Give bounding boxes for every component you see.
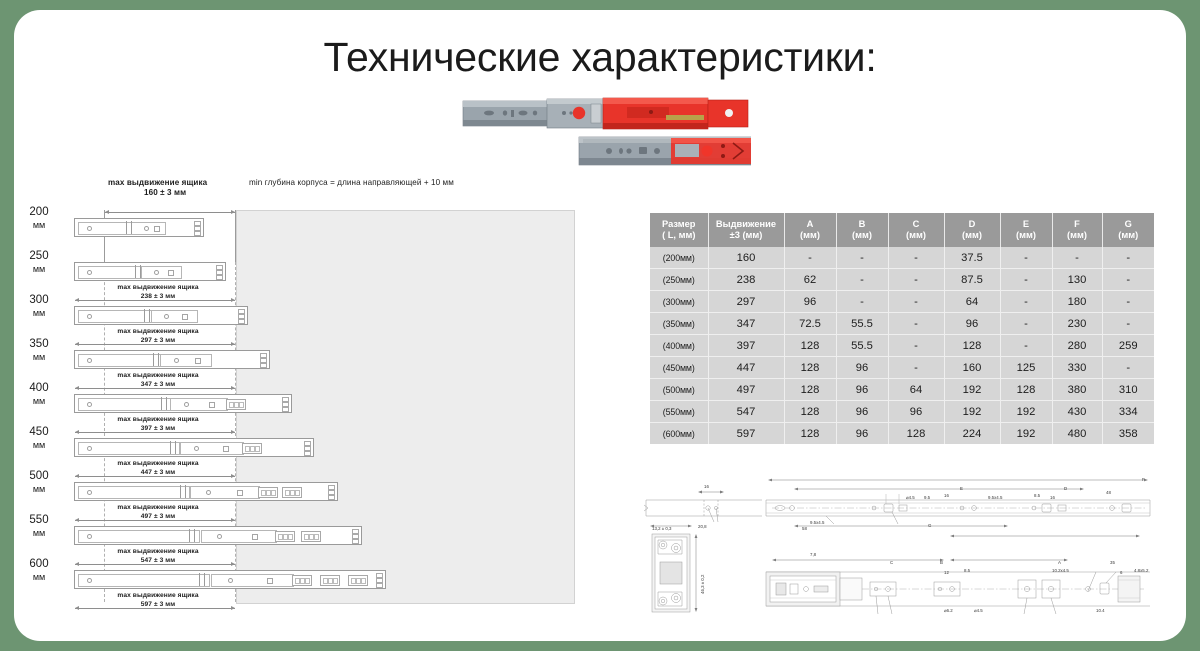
- page-title: Технические характеристики:: [14, 34, 1186, 81]
- cell-r7-c4: 96: [888, 401, 944, 423]
- rail-release-lever: [144, 309, 150, 322]
- cell-r0-c0: (200мм): [650, 247, 708, 269]
- col-header-line1: E: [1002, 219, 1051, 230]
- cell-r6-c6: 128: [1000, 379, 1052, 401]
- cell-r3-c6: -: [1000, 313, 1052, 335]
- spec-col-header-1: Выдвижение±3 (мм): [708, 213, 784, 247]
- rail-end-bracket: [283, 397, 289, 410]
- dim-10-4: 10.4: [1096, 608, 1105, 613]
- cell-r8-c3: 96: [836, 423, 888, 445]
- size-label-unit: мм: [16, 219, 62, 232]
- dimension-line-250: [75, 300, 235, 301]
- rail-detent: [252, 534, 258, 540]
- rail-end-bracket: [377, 573, 383, 586]
- rail-200: [74, 218, 204, 237]
- cell-r2-c2: 96: [784, 291, 836, 313]
- rail-caption-250: max выдвижение ящика238 ± 3 мм: [78, 283, 238, 301]
- dim-a: A: [1058, 560, 1061, 565]
- rail-release-lever: [126, 221, 132, 234]
- rail-detent: [209, 402, 215, 408]
- dim-f: F: [1142, 477, 1145, 482]
- table-row: (350мм)34772.555.5-96-230-: [650, 313, 1154, 335]
- rail-end-bracket: [217, 265, 223, 278]
- rail-hole: [87, 446, 92, 451]
- rail-hole: [87, 402, 92, 407]
- dim-8-5a: 8.5: [1034, 493, 1041, 498]
- dim-slot-d: 4.8x5.2: [1134, 568, 1149, 573]
- rail-350: [74, 350, 270, 369]
- ref-line-mid: [235, 210, 236, 262]
- ball-cage: [226, 399, 246, 410]
- rail-hole: [206, 490, 211, 495]
- rail-caption-400: max выдвижение ящика397 ± 3 мм: [78, 415, 238, 433]
- cell-r0-c5: 37.5: [944, 247, 1000, 269]
- rail-release-lever: [189, 529, 195, 542]
- ball-cage: [282, 487, 302, 498]
- cell-r3-c7: 230: [1052, 313, 1102, 335]
- size-label-600: 600мм: [16, 558, 62, 584]
- rail-detent: [168, 270, 174, 276]
- note-min-depth: min глубина корпуса = длина направляющей…: [249, 178, 454, 187]
- size-label-200: 200мм: [16, 206, 62, 232]
- cell-r6-c7: 380: [1052, 379, 1102, 401]
- table-row: (400мм)39712855.5-128-280259: [650, 335, 1154, 357]
- cell-r7-c5: 192: [944, 401, 1000, 423]
- drawing-svg: 16 20,8 13,2 ± 0,3 46,3 ± 0,2 F E D G 58…: [644, 472, 1160, 618]
- size-label-250: 250мм: [16, 250, 62, 276]
- rail-caption-450: max выдвижение ящика447 ± 3 мм: [78, 459, 238, 477]
- spec-col-header-6: E(мм): [1000, 213, 1052, 247]
- dim-16a: 16: [704, 484, 709, 489]
- rail-hole: [87, 226, 92, 231]
- cell-r6-c4: 64: [888, 379, 944, 401]
- dim-slot-a: 9.5x4.5: [988, 495, 1003, 500]
- rail-hole: [194, 446, 199, 451]
- cell-r3-c4: -: [888, 313, 944, 335]
- caption-prefix: max выдвижение ящика: [78, 371, 238, 380]
- rail-segment-inner: [78, 574, 210, 587]
- rail-hole: [217, 534, 222, 539]
- cell-r4-c2: 128: [784, 335, 836, 357]
- extension-diagram: max выдвижение ящика 160 ± 3 мм min глуб…: [46, 178, 606, 618]
- rail-end-bracket: [353, 529, 359, 542]
- product-photo: [461, 95, 751, 177]
- col-header-line1: G: [1104, 219, 1154, 230]
- rail-300: [74, 306, 248, 325]
- rail-segment-inner: [78, 486, 190, 499]
- cell-r8-c0: (600мм): [650, 423, 708, 445]
- cell-r7-c1: 547: [708, 401, 784, 423]
- rail-end-bracket: [195, 221, 201, 234]
- spec-table: Размер( L, мм)Выдвижение±3 (мм)A(мм)B(мм…: [650, 213, 1154, 444]
- dim-6: 6: [1120, 570, 1123, 575]
- size-label-350: 350мм: [16, 338, 62, 364]
- ball-cage: [320, 575, 340, 586]
- col-header-line1: Выдвижение: [710, 219, 783, 230]
- cell-r2-c1: 297: [708, 291, 784, 313]
- cell-r7-c0: (550мм): [650, 401, 708, 423]
- rail-detent: [182, 314, 188, 320]
- table-row: (200мм)160---37.5---: [650, 247, 1154, 269]
- slide-panel: Технические характеристики:: [14, 10, 1186, 641]
- col-header-line2: ( L, мм): [651, 230, 707, 241]
- size-label-unit: мм: [16, 571, 62, 584]
- cell-r4-c7: 280: [1052, 335, 1102, 357]
- rail-segment-middle: [160, 354, 212, 367]
- table-row: (600мм)59712896128224192480358: [650, 423, 1154, 445]
- cell-r2-c8: -: [1102, 291, 1154, 313]
- cell-r3-c8: -: [1102, 313, 1154, 335]
- dim-c: C: [890, 560, 893, 565]
- rail-hole: [87, 578, 92, 583]
- cell-r0-c6: -: [1000, 247, 1052, 269]
- table-row: (300мм)29796--64-180-: [650, 291, 1154, 313]
- rail-caption-550: max выдвижение ящика547 ± 3 мм: [78, 547, 238, 565]
- rail-end-bracket: [329, 485, 335, 498]
- rail-detent: [267, 578, 273, 584]
- col-header-line1: D: [946, 219, 999, 230]
- size-label-unit: мм: [16, 263, 62, 276]
- size-label-value: 550: [16, 514, 62, 527]
- dimension-line-300: [75, 344, 235, 345]
- caption-prefix: max выдвижение ящика: [78, 547, 238, 556]
- table-row: (250мм)23862--87.5-130-: [650, 269, 1154, 291]
- cell-r0-c8: -: [1102, 247, 1154, 269]
- rail-end-bracket: [239, 309, 245, 322]
- rail-detent: [195, 358, 201, 364]
- rail-hole: [228, 578, 233, 583]
- rail-end-bracket: [261, 353, 267, 366]
- cell-r5-c3: 96: [836, 357, 888, 379]
- cell-r0-c7: -: [1052, 247, 1102, 269]
- spec-col-header-0: Размер( L, мм): [650, 213, 708, 247]
- dim-dia-4-5a: ⌀4.5: [906, 495, 915, 500]
- cell-r2-c5: 64: [944, 291, 1000, 313]
- cell-r1-c4: -: [888, 269, 944, 291]
- size-label-value: 500: [16, 470, 62, 483]
- rail-hole: [164, 314, 169, 319]
- cell-r8-c6: 192: [1000, 423, 1052, 445]
- rail-segment-middle: [211, 574, 294, 587]
- dimension-line-450: [75, 476, 235, 477]
- rail-450: [74, 438, 314, 457]
- rail-400: [74, 394, 292, 413]
- spec-col-header-2: A(мм): [784, 213, 836, 247]
- ball-cage: [258, 487, 278, 498]
- cell-r5-c0: (450мм): [650, 357, 708, 379]
- dim-16b: 16: [944, 493, 949, 498]
- cell-r6-c8: 310: [1102, 379, 1154, 401]
- size-label-unit: мм: [16, 527, 62, 540]
- rail-release-lever: [170, 441, 176, 454]
- dim-d: D: [1064, 486, 1067, 491]
- dim-35: 35: [1110, 560, 1115, 565]
- col-header-line2: (мм): [1002, 230, 1051, 241]
- size-label-550: 550мм: [16, 514, 62, 540]
- size-label-value: 350: [16, 338, 62, 351]
- cell-r4-c6: -: [1000, 335, 1052, 357]
- rail-segment-middle: [170, 398, 228, 411]
- cell-r3-c1: 347: [708, 313, 784, 335]
- cell-r1-c6: -: [1000, 269, 1052, 291]
- table-row: (550мм)5471289696192192430334: [650, 401, 1154, 423]
- dim-9-5a: 9.5: [924, 495, 931, 500]
- size-label-unit: мм: [16, 483, 62, 496]
- cell-r8-c8: 358: [1102, 423, 1154, 445]
- cell-r0-c3: -: [836, 247, 888, 269]
- rail-hole: [87, 534, 92, 539]
- size-label-450: 450мм: [16, 426, 62, 452]
- cell-r7-c2: 128: [784, 401, 836, 423]
- size-label-unit: мм: [16, 395, 62, 408]
- cell-r8-c1: 597: [708, 423, 784, 445]
- rail-caption-300: max выдвижение ящика297 ± 3 мм: [78, 327, 238, 345]
- cell-r5-c5: 160: [944, 357, 1000, 379]
- rail-detent: [154, 226, 160, 232]
- rail-segment-middle: [141, 266, 182, 279]
- spec-col-header-7: F(мм): [1052, 213, 1102, 247]
- rail-release-lever: [153, 353, 159, 366]
- col-header-line2: (мм): [1054, 230, 1101, 241]
- dimension-line-550: [75, 564, 235, 565]
- rail-segment-middle: [180, 442, 244, 455]
- rail-hole: [154, 270, 159, 275]
- col-header-line2: (мм): [890, 230, 943, 241]
- rail-caption-600: max выдвижение ящика597 ± 3 мм: [78, 591, 238, 609]
- ball-cage: [242, 443, 262, 454]
- cell-r1-c0: (250мм): [650, 269, 708, 291]
- cell-r0-c2: -: [784, 247, 836, 269]
- dim-dia-4-5b: ⌀4.5: [974, 608, 983, 613]
- rail-hole: [87, 270, 92, 275]
- cell-r2-c4: -: [888, 291, 944, 313]
- cell-r3-c2: 72.5: [784, 313, 836, 335]
- rail-hole: [87, 490, 92, 495]
- cell-r1-c7: 130: [1052, 269, 1102, 291]
- rail-500: [74, 482, 338, 501]
- dim-slot-c: 10.2x4.5: [1052, 568, 1069, 573]
- rail-release-lever: [135, 265, 141, 278]
- cell-r4-c1: 397: [708, 335, 784, 357]
- caption-prefix: max выдвижение ящика: [78, 327, 238, 336]
- size-label-value: 300: [16, 294, 62, 307]
- rail-end-bracket: [305, 441, 311, 454]
- size-label-unit: мм: [16, 439, 62, 452]
- rail-hole: [144, 226, 149, 231]
- col-header-line1: Размер: [651, 219, 707, 230]
- size-label-value: 250: [16, 250, 62, 263]
- spec-table-body: (200мм)160---37.5---(250мм)23862--87.5-1…: [650, 247, 1154, 444]
- cell-r7-c8: 334: [1102, 401, 1154, 423]
- rail-250: [74, 262, 226, 281]
- cell-r1-c8: -: [1102, 269, 1154, 291]
- cell-r2-c6: -: [1000, 291, 1052, 313]
- slide-lower: [579, 137, 751, 165]
- rail-hole: [87, 358, 92, 363]
- spec-col-header-3: B(мм): [836, 213, 888, 247]
- cell-r8-c2: 128: [784, 423, 836, 445]
- cell-r8-c7: 480: [1052, 423, 1102, 445]
- rail-550: [74, 526, 362, 545]
- size-label-value: 600: [16, 558, 62, 571]
- dim-58: 58: [802, 526, 807, 531]
- cell-r5-c8: -: [1102, 357, 1154, 379]
- cell-r6-c0: (500мм): [650, 379, 708, 401]
- ball-cage: [301, 531, 321, 542]
- cell-r6-c2: 128: [784, 379, 836, 401]
- dim-width: 13,2 ± 0,3: [652, 526, 672, 531]
- dim-slot-b: 9.5x4.5: [810, 520, 825, 525]
- caption-prefix: max выдвижение ящика: [78, 459, 238, 468]
- col-header-line1: F: [1054, 219, 1101, 230]
- cell-r3-c0: (350мм): [650, 313, 708, 335]
- dimension-line-400: [75, 432, 235, 433]
- cell-r4-c5: 128: [944, 335, 1000, 357]
- rail-hole: [174, 358, 179, 363]
- ball-cage: [348, 575, 368, 586]
- cell-r0-c4: -: [888, 247, 944, 269]
- cell-r1-c1: 238: [708, 269, 784, 291]
- col-header-line1: A: [786, 219, 835, 230]
- caption-prefix: max выдвижение ящика: [78, 503, 238, 512]
- col-header-line1: C: [890, 219, 943, 230]
- table-row: (500мм)4971289664192128380310: [650, 379, 1154, 401]
- col-header-line2: (мм): [838, 230, 887, 241]
- cell-r8-c5: 224: [944, 423, 1000, 445]
- size-label-value: 200: [16, 206, 62, 219]
- cell-r4-c4: -: [888, 335, 944, 357]
- cell-r4-c8: 259: [1102, 335, 1154, 357]
- spec-col-header-5: D(мм): [944, 213, 1000, 247]
- rail-segment-middle: [201, 530, 277, 543]
- rail-release-lever: [199, 573, 205, 586]
- dim-48: 48: [1106, 490, 1111, 495]
- spec-col-header-4: C(мм): [888, 213, 944, 247]
- size-label-500: 500мм: [16, 470, 62, 496]
- size-label-value: 400: [16, 382, 62, 395]
- dimension-line-350: [75, 388, 235, 389]
- col-header-line2: (мм): [786, 230, 835, 241]
- rail-segment-middle: [151, 310, 198, 323]
- cell-r0-c1: 160: [708, 247, 784, 269]
- size-label-value: 450: [16, 426, 62, 439]
- dim-20-8: 20,8: [698, 524, 707, 529]
- spec-col-header-8: G(мм): [1102, 213, 1154, 247]
- table-row: (450мм)44712896-160125330-: [650, 357, 1154, 379]
- dim-e: E: [960, 486, 963, 491]
- cell-r7-c6: 192: [1000, 401, 1052, 423]
- rail-caption-500: max выдвижение ящика497 ± 3 мм: [78, 503, 238, 521]
- cell-r1-c2: 62: [784, 269, 836, 291]
- dim-16c: 16: [1050, 495, 1055, 500]
- spec-table-header-row: Размер( L, мм)Выдвижение±3 (мм)A(мм)B(мм…: [650, 213, 1154, 247]
- note-max-extension-label: max выдвижение ящика: [108, 178, 207, 187]
- cell-r7-c7: 430: [1052, 401, 1102, 423]
- cell-r8-c4: 128: [888, 423, 944, 445]
- rail-hole: [87, 314, 92, 319]
- cell-r1-c3: -: [836, 269, 888, 291]
- caption-prefix: max выдвижение ящика: [78, 283, 238, 292]
- caption-prefix: max выдвижение ящика: [78, 591, 238, 600]
- cell-r2-c0: (300мм): [650, 291, 708, 313]
- cell-r3-c3: 55.5: [836, 313, 888, 335]
- dimension-line-500: [75, 520, 235, 521]
- dim-7-8: 7,8: [810, 552, 817, 557]
- rail-segment-inner: [78, 530, 200, 543]
- size-label-400: 400мм: [16, 382, 62, 408]
- cell-r5-c1: 447: [708, 357, 784, 379]
- cell-r1-c5: 87.5: [944, 269, 1000, 291]
- dim-12: 12: [944, 570, 949, 575]
- cell-r4-c3: 55.5: [836, 335, 888, 357]
- rail-release-lever: [161, 397, 167, 410]
- cell-r2-c3: -: [836, 291, 888, 313]
- rail-segment-middle: [190, 486, 260, 499]
- col-header-line2: (мм): [1104, 230, 1154, 241]
- rail-detent: [223, 446, 229, 452]
- cell-r6-c1: 497: [708, 379, 784, 401]
- cell-r5-c6: 125: [1000, 357, 1052, 379]
- note-max-extension-value: 160 ± 3 мм: [144, 188, 186, 197]
- rail-caption-350: max выдвижение ящика347 ± 3 мм: [78, 371, 238, 389]
- technical-drawing: 16 20,8 13,2 ± 0,3 46,3 ± 0,2 F E D G 58…: [644, 472, 1160, 618]
- dim-height: 46,3 ± 0,2: [700, 574, 705, 594]
- cell-r5-c4: -: [888, 357, 944, 379]
- dim-dia-6-2: ⌀6.2: [944, 608, 953, 613]
- col-header-line1: B: [838, 219, 887, 230]
- size-label-300: 300мм: [16, 294, 62, 320]
- spec-table-wrapper: Размер( L, мм)Выдвижение±3 (мм)A(мм)B(мм…: [650, 213, 1154, 444]
- dimension-line-160: [105, 212, 235, 213]
- cell-r2-c7: 180: [1052, 291, 1102, 313]
- size-label-unit: мм: [16, 351, 62, 364]
- cell-r6-c5: 192: [944, 379, 1000, 401]
- dim-g: G: [928, 523, 932, 528]
- caption-prefix: max выдвижение ящика: [78, 415, 238, 424]
- cell-r7-c3: 96: [836, 401, 888, 423]
- cell-r5-c2: 128: [784, 357, 836, 379]
- rail-detent: [237, 490, 243, 496]
- rail-600: [74, 570, 386, 589]
- rail-release-lever: [180, 485, 186, 498]
- dim-b: B: [940, 560, 943, 565]
- slide-upper: [463, 98, 748, 129]
- cell-r5-c7: 330: [1052, 357, 1102, 379]
- rail-segment-inner: [78, 442, 180, 455]
- cell-r6-c3: 96: [836, 379, 888, 401]
- col-header-line2: (мм): [946, 230, 999, 241]
- cell-r4-c0: (400мм): [650, 335, 708, 357]
- ball-cage: [292, 575, 312, 586]
- col-header-line2: ±3 (мм): [710, 230, 783, 241]
- rail-hole: [184, 402, 189, 407]
- ball-cage: [275, 531, 295, 542]
- cell-r3-c5: 96: [944, 313, 1000, 335]
- dimension-line-600: [75, 608, 235, 609]
- size-label-unit: мм: [16, 307, 62, 320]
- dim-8-5b: 8.5: [964, 568, 971, 573]
